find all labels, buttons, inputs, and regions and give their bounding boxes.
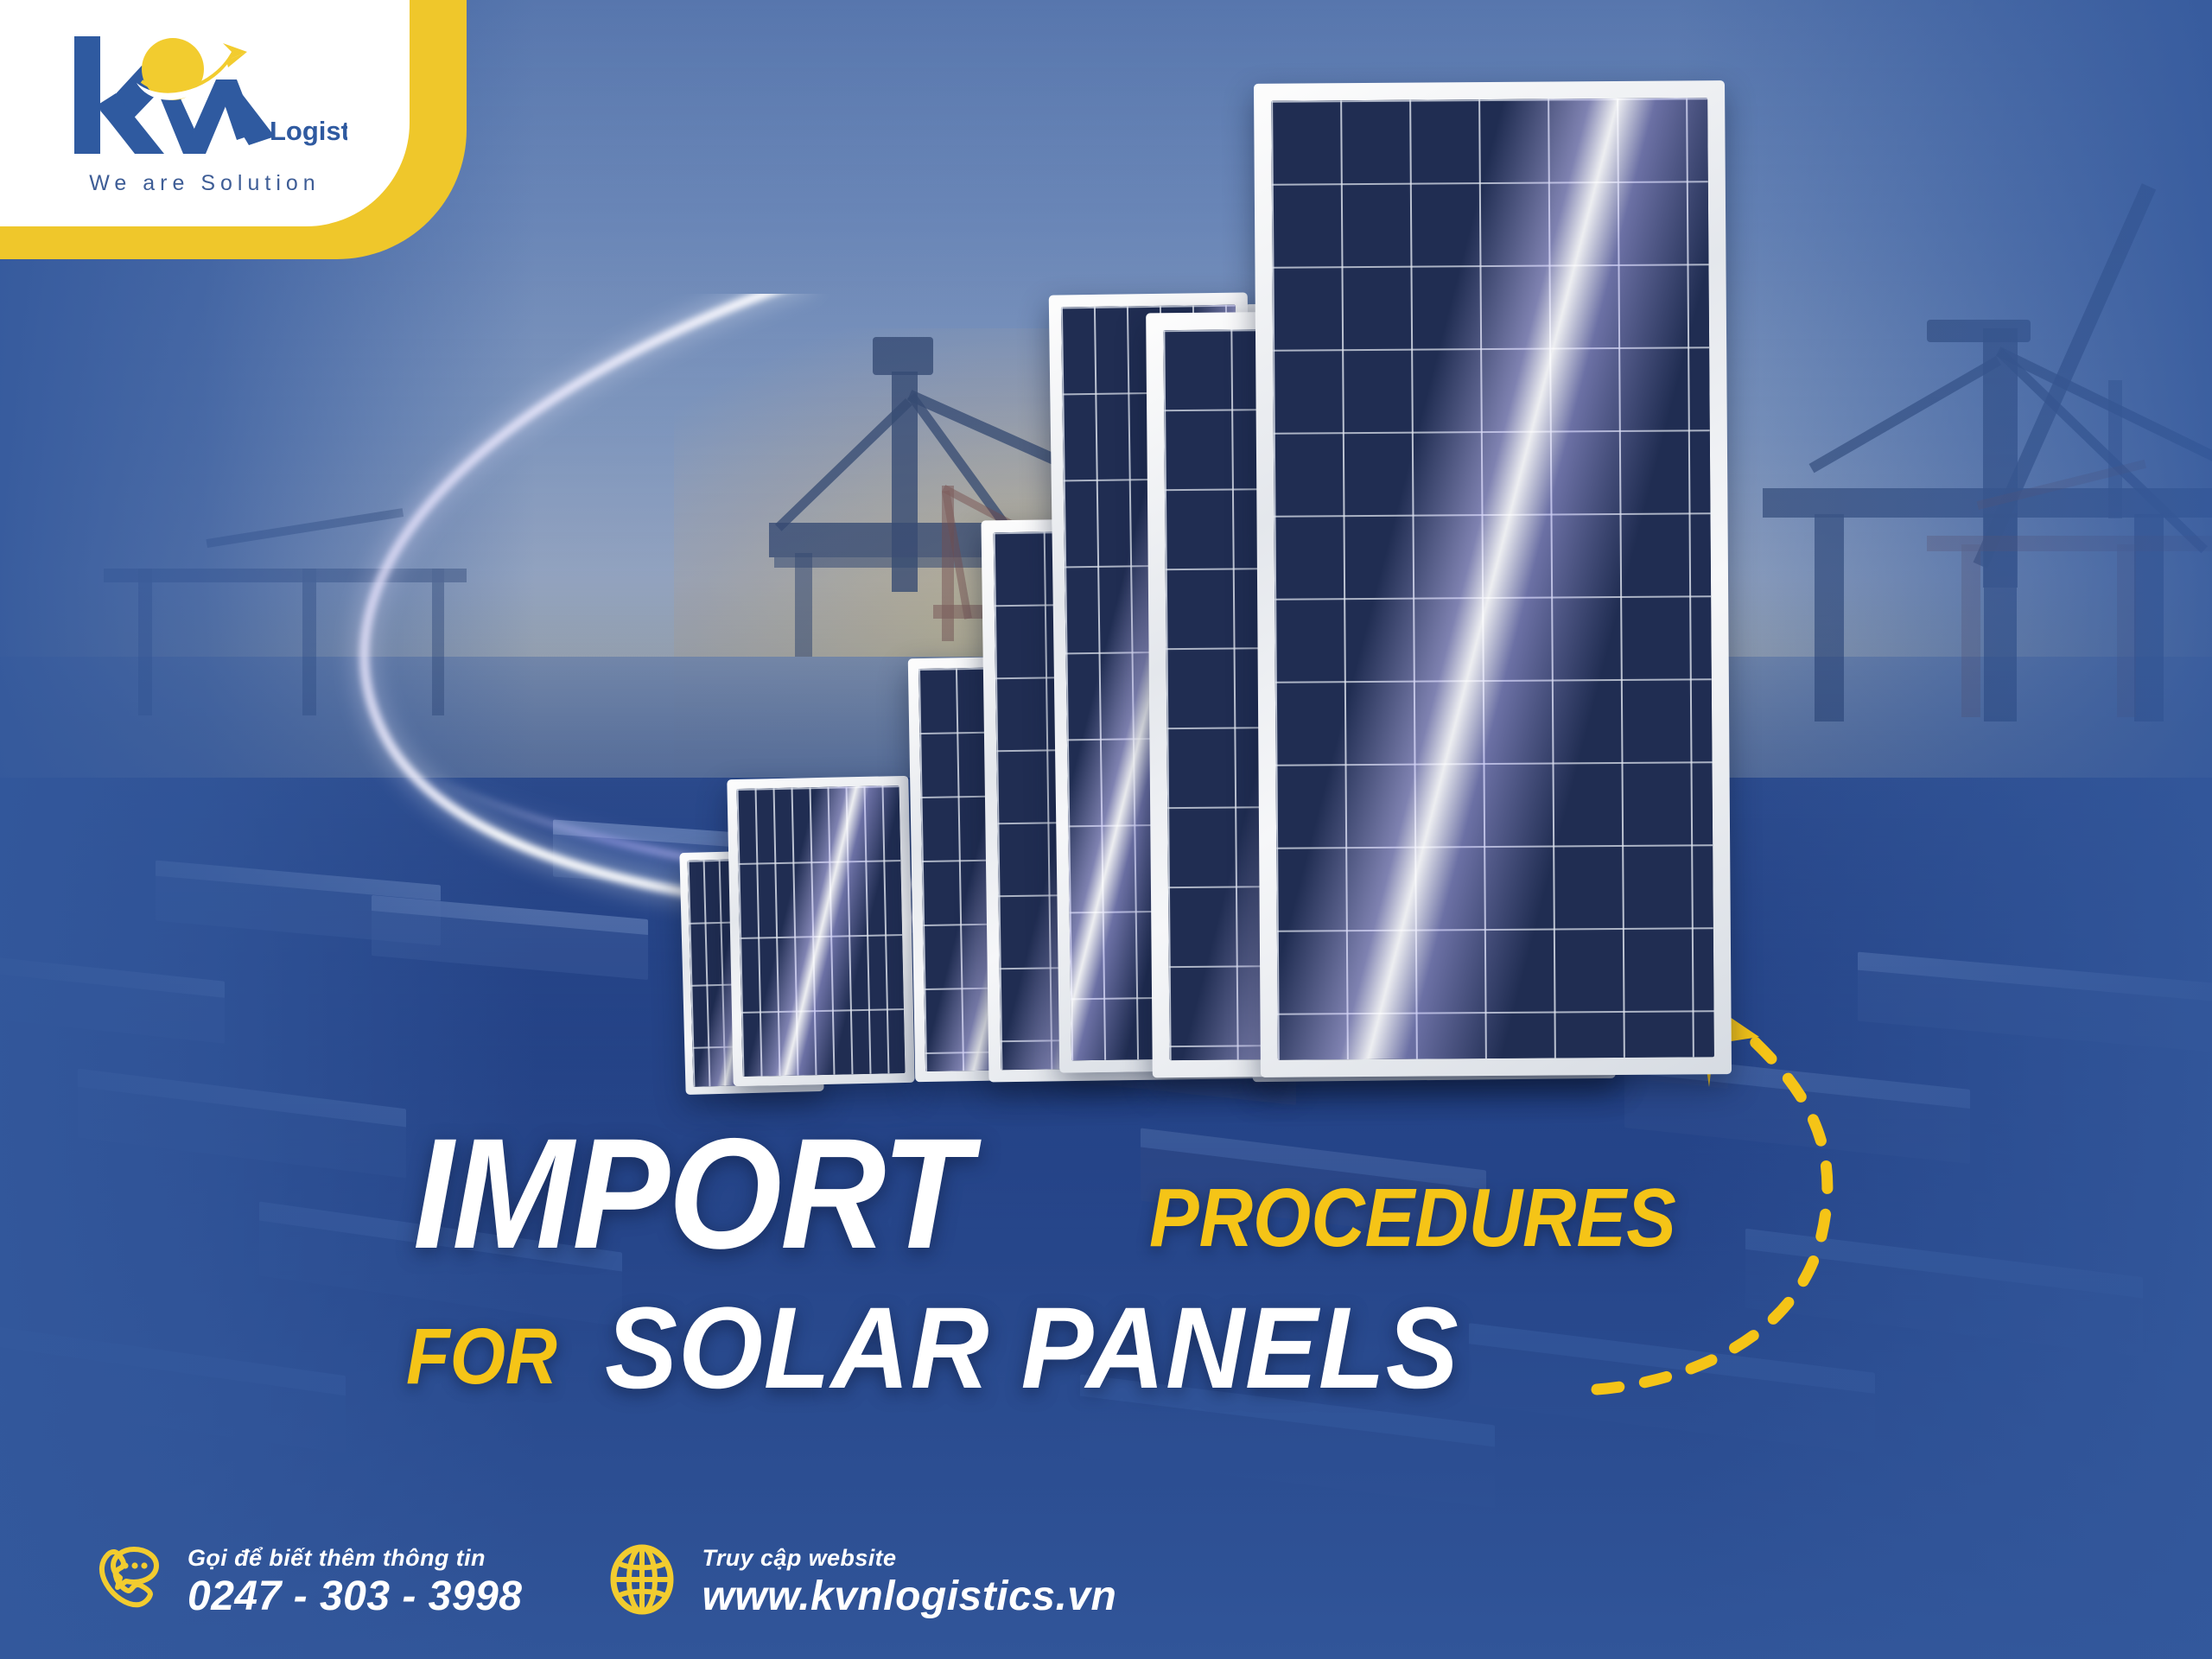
logo-white-panel: Logistics We are Solution [0,0,410,226]
brand-logo-card[interactable]: Logistics We are Solution [0,0,467,259]
contact-website[interactable]: Truy cập website www.kvnlogistics.vn [605,1542,1116,1621]
contact-phone[interactable]: Gọi để biết thêm thông tin 0247 - 303 - … [91,1542,522,1621]
headline-line-2: FOR SOLAR PANELS [0,1298,2212,1419]
headline-block: IMPORT PROCEDURES FOR SOLAR PANELS [0,1123,2212,1419]
poster-canvas: Logistics We are Solution IMPORT PROCEDU… [0,0,2212,1659]
phone-number[interactable]: 0247 - 303 - 3998 [188,1575,522,1618]
website-url[interactable]: www.kvnlogistics.vn [702,1575,1116,1618]
phone-label: Gọi để biết thêm thông tin [188,1544,522,1572]
globe-icon [605,1542,679,1621]
headline-word-import: IMPORT [413,1115,969,1272]
logo-tagline: We are Solution [89,171,320,196]
phone-chat-icon [91,1542,165,1621]
kvn-logo-mark: Logistics [62,31,347,169]
headline-line-1: IMPORT PROCEDURES [0,1123,2212,1253]
website-label: Truy cập website [702,1544,1116,1572]
headline-word-solar-panels: SOLAR PANELS [605,1291,1459,1407]
headline-word-procedures: PROCEDURES [1149,1177,1676,1260]
solar-panel-2 [727,776,914,1086]
footer-contact-bar: Gọi để biết thêm thông tin 0247 - 303 - … [0,1503,2212,1659]
panel-glass [737,785,906,1077]
headline-word-for: FOR [406,1317,557,1396]
solar-panel-7 [1254,80,1732,1077]
panel-glass [1271,98,1714,1059]
logo-logistics-text: Logistics [270,116,347,146]
